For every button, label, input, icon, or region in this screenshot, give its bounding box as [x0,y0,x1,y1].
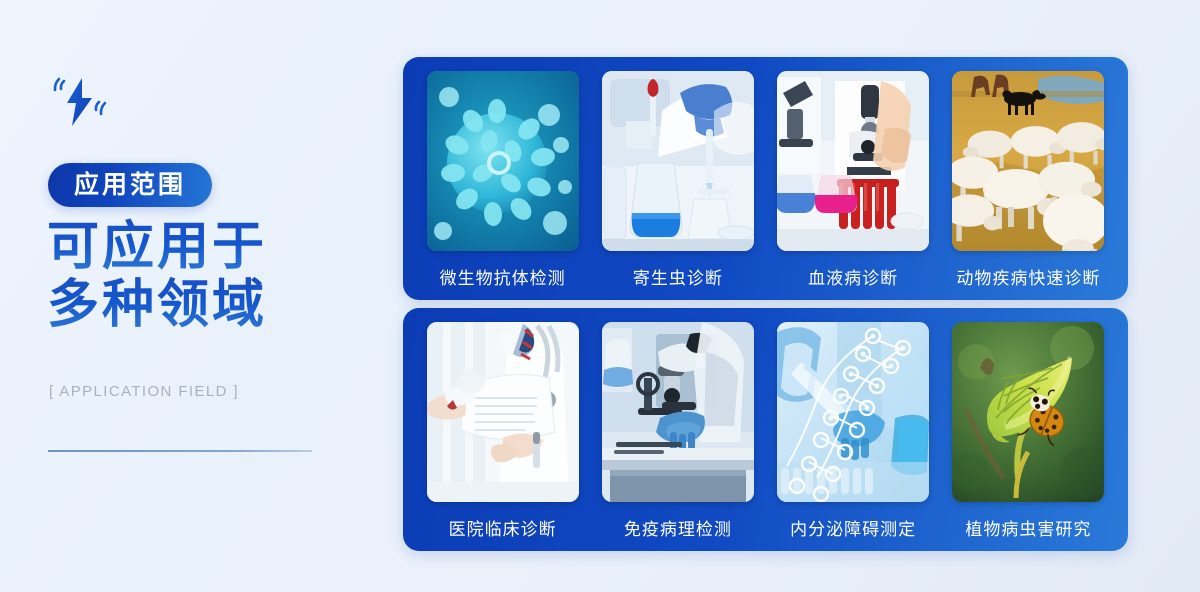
microscope-lab-blue-photo [602,322,754,502]
page-title: 可应用于 多种领域 [47,218,377,334]
divider [48,450,312,452]
card-label: 血液病诊断 [808,264,898,289]
lightning-signal-icon [52,76,108,128]
ladybug-on-leaf-photo [952,322,1104,502]
subtitle: [ APPLICATION FIELD ] [49,383,239,400]
card-label: 微生物抗体检测 [440,264,566,289]
left-info-panel: 应用范围 可应用于 多种领域 [ APPLICATION FIELD ] [0,0,400,592]
card-label: 免疫病理检测 [624,515,732,540]
headline-line-1: 可应用于 [47,218,377,276]
sheep-grazing-field-photo [952,71,1104,251]
card-panel-row-2: 医院临床诊断 [403,308,1128,551]
card-item[interactable]: 医院临床诊断 [415,322,590,551]
dna-helix-lab-photo [777,322,929,502]
card-item[interactable]: 动物疾病快速诊断 [941,71,1116,300]
card-item[interactable]: 内分泌障碍测定 [766,322,941,551]
card-panel-row-1: 微生物抗体检测 [403,57,1128,300]
doctor-with-documents-photo [427,322,579,502]
card-label: 医院临床诊断 [449,515,557,540]
card-item[interactable]: 寄生虫诊断 [590,71,765,300]
microscope-blood-tubes-photo [777,71,929,251]
card-label: 寄生虫诊断 [633,264,723,289]
card-label: 植物病虫害研究 [965,515,1091,540]
card-item[interactable]: 血液病诊断 [766,71,941,300]
headline-line-2: 多种领域 [47,276,377,334]
section-badge-label: 应用范围 [74,173,186,198]
card-label: 内分泌障碍测定 [790,515,916,540]
lab-glassware-pipette-photo [602,71,754,251]
card-item[interactable]: 微生物抗体检测 [415,71,590,300]
virus-particle-photo [427,71,579,251]
card-item[interactable]: 植物病虫害研究 [941,322,1116,551]
section-badge: 应用范围 [48,163,212,207]
card-item[interactable]: 免疫病理检测 [590,322,765,551]
card-label: 动物疾病快速诊断 [956,264,1100,289]
